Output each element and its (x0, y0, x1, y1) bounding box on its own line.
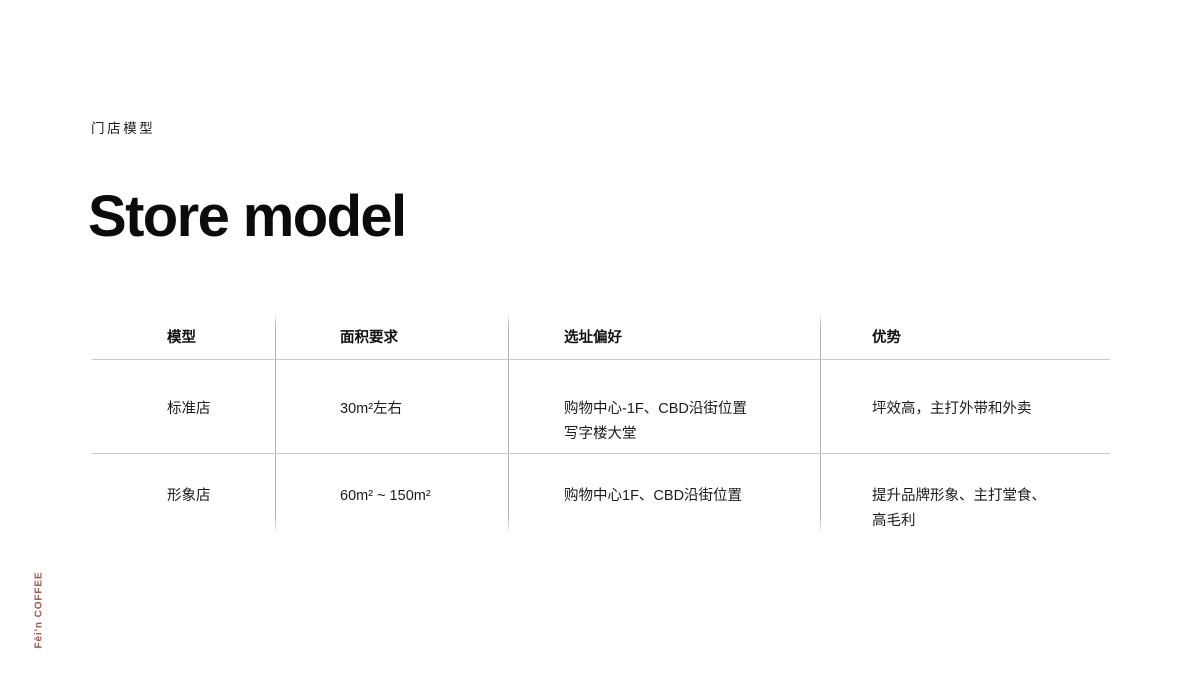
slide-canvas: 门店模型 Store model 模型 面积要求 选址偏好 优势 标准店 30m… (0, 0, 1200, 675)
cell-advantage-standard: 坪效高，主打外带和外卖 (820, 397, 1110, 447)
brand-logo-text: Fēi'n COFFEE (34, 571, 45, 648)
slide-eyebrow: 门店模型 (91, 122, 155, 136)
cell-area-flagship: 60m² ~ 150m² (275, 484, 508, 534)
table-row: 形象店 60m² ~ 150m² 购物中心1F、CBD沿街位置 提升品牌形象、主… (92, 484, 1110, 534)
brand-logo: Fēi'n COFFEE (24, 570, 54, 650)
row-rule (92, 453, 1110, 454)
column-header-location: 选址偏好 (508, 326, 820, 351)
cell-model-standard: 标准店 (92, 397, 275, 447)
column-header-model: 模型 (92, 326, 275, 351)
column-header-area: 面积要求 (275, 326, 508, 351)
cell-model-flagship: 形象店 (92, 484, 275, 534)
cell-location-flagship: 购物中心1F、CBD沿街位置 (508, 484, 820, 534)
column-header-advantage: 优势 (820, 326, 1110, 351)
cell-location-standard: 购物中心-1F、CBD沿街位置 写字楼大堂 (508, 397, 820, 447)
cell-advantage-flagship: 提升品牌形象、主打堂食、 高毛利 (820, 484, 1110, 534)
table-row: 标准店 30m²左右 购物中心-1F、CBD沿街位置 写字楼大堂 坪效高，主打外… (92, 397, 1110, 447)
header-rule (92, 359, 1110, 360)
table-header-row: 模型 面积要求 选址偏好 优势 (92, 326, 1110, 351)
page-title: Store model (88, 187, 406, 248)
store-model-table: 模型 面积要求 选址偏好 优势 标准店 30m²左右 购物中心-1F、CBD沿街… (92, 312, 1110, 534)
cell-area-standard: 30m²左右 (275, 397, 508, 447)
